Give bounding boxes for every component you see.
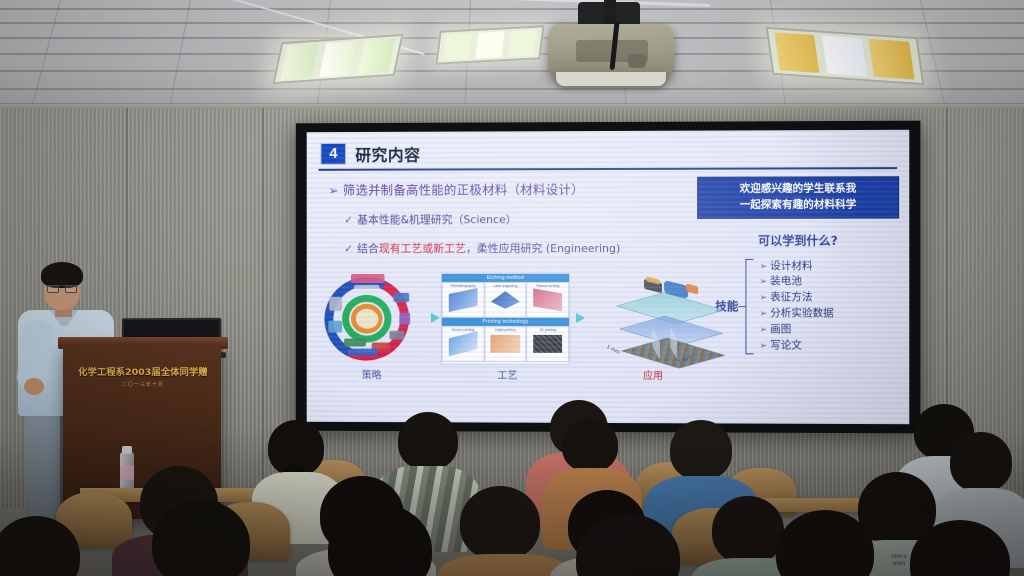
- projector-base: [556, 72, 666, 86]
- cta-line-1: 欢迎感兴趣的学生联系我: [704, 181, 892, 197]
- bullet-level2-a-text: 基本性能&机理研究（Science）: [357, 213, 517, 226]
- process-cell: Inkjet printing: [484, 326, 526, 362]
- process-cell: Photolithography: [442, 282, 484, 318]
- slide-content: 4 研究内容 ➢筛选并制备高性能的正极材料（材料设计） ✓基本性能&机理研究（S…: [307, 130, 910, 424]
- head: [398, 412, 458, 470]
- head: [460, 486, 540, 560]
- bullet-level2-b: ✓结合现有工艺或新工艺，柔性应用研究 (Engineering): [344, 240, 681, 256]
- head: [562, 418, 618, 472]
- flow-arrow-2: [576, 313, 585, 323]
- bullet-marker-check-b: ✓: [344, 242, 353, 255]
- figure-caption-application: 应用: [594, 367, 712, 382]
- speaker-glasses-right-lens: [65, 285, 77, 293]
- projection-screen: 4 研究内容 ➢筛选并制备高性能的正极材料（材料设计） ✓基本性能&机理研究（S…: [307, 130, 910, 424]
- slide-number-badge: 4: [320, 143, 346, 165]
- podium-plaque: 化学工程系2003届全体同学赠 二〇一三年十月: [77, 359, 209, 393]
- learn-question: 可以学到什么?: [697, 231, 899, 248]
- water-bottle-label: [120, 466, 134, 480]
- head: [950, 432, 1012, 492]
- process-cell: Plasma etching: [527, 282, 570, 318]
- figure-caption-process: 工艺: [441, 367, 574, 382]
- slide-title-rule: [318, 167, 897, 171]
- slide-title-row: 4 研究内容: [320, 140, 895, 166]
- ceiling: [0, 0, 1024, 118]
- bullet-b-post: ，柔性应用研究 (Engineering): [466, 242, 620, 255]
- bullet-b-highlight: 现有工艺或新工艺: [379, 242, 466, 255]
- cta-line-2: 一起探索有趣的材料科学: [704, 197, 892, 213]
- slide-figure-strip: 策略 Etching method Photolithography: [320, 273, 899, 392]
- bullet-level1-text: 筛选并制备高性能的正极材料（材料设计）: [343, 182, 584, 198]
- left-light-panel: [272, 34, 403, 84]
- cta-box: 欢迎感兴趣的学生联系我 一起探索有趣的材料科学: [697, 176, 899, 218]
- process-section-header-etching: Etching method: [442, 274, 569, 282]
- process-section-header-printing: Printing technology: [442, 318, 569, 326]
- strategy-ring-core: [357, 310, 379, 329]
- process-cell: 3D printing: [527, 326, 570, 362]
- process-cell: Screen printing: [442, 326, 484, 362]
- figure-strategy: 策略: [320, 273, 423, 365]
- head: [712, 496, 784, 564]
- head: [670, 420, 732, 480]
- process-cell: Laser engraving: [484, 282, 526, 318]
- slide-bullet-list: ➢筛选并制备高性能的正极材料（材料设计） ✓基本性能&机理研究（Science）…: [328, 179, 681, 256]
- process-matrix: Etching method Photolithography Laser en…: [441, 273, 570, 365]
- right-light-panel: [766, 27, 925, 85]
- figure-caption-strategy: 策略: [320, 366, 423, 381]
- center-light-panel: [435, 25, 544, 64]
- bullet-marker-arrow: ➢: [328, 183, 339, 198]
- slide-title: 研究内容: [355, 142, 420, 166]
- stack-dim-left: 1 mm: [605, 344, 620, 356]
- figure-application: 1 mm 1 mm 应用: [594, 273, 712, 365]
- circular-strategy-diagram: [320, 273, 423, 365]
- projector-lens: [628, 54, 646, 68]
- projection-screen-frame: 4 研究内容 ➢筛选并制备高性能的正极材料（材料设计） ✓基本性能&机理研究（S…: [296, 121, 921, 434]
- bullet-b-pre: 结合: [357, 242, 379, 255]
- podium-plaque-date-text: 二〇一三年十月: [122, 381, 164, 388]
- podium-plaque-main-text: 化学工程系2003届全体同学赠: [78, 364, 208, 378]
- bullet-marker-check-a: ✓: [344, 213, 353, 226]
- bullet-level2-a: ✓基本性能&机理研究（Science）: [344, 211, 681, 227]
- process-row-etching: Photolithography Laser engraving Plasma …: [442, 282, 569, 318]
- lecture-hall-scene: 4 研究内容 ➢筛选并制备高性能的正极材料（材料设计） ✓基本性能&机理研究（S…: [0, 0, 1024, 576]
- device-stack-diagram: 1 mm 1 mm: [594, 273, 710, 365]
- bullet-level1: ➢筛选并制备高性能的正极材料（材料设计）: [328, 179, 681, 199]
- flow-arrow-1: [431, 313, 440, 323]
- process-row-printing: Screen printing Inkjet printing 3D print…: [442, 326, 569, 362]
- figure-process: Etching method Photolithography Laser en…: [441, 273, 574, 365]
- speaker-hand: [24, 378, 44, 395]
- speaker-glasses-left-lens: [47, 285, 59, 293]
